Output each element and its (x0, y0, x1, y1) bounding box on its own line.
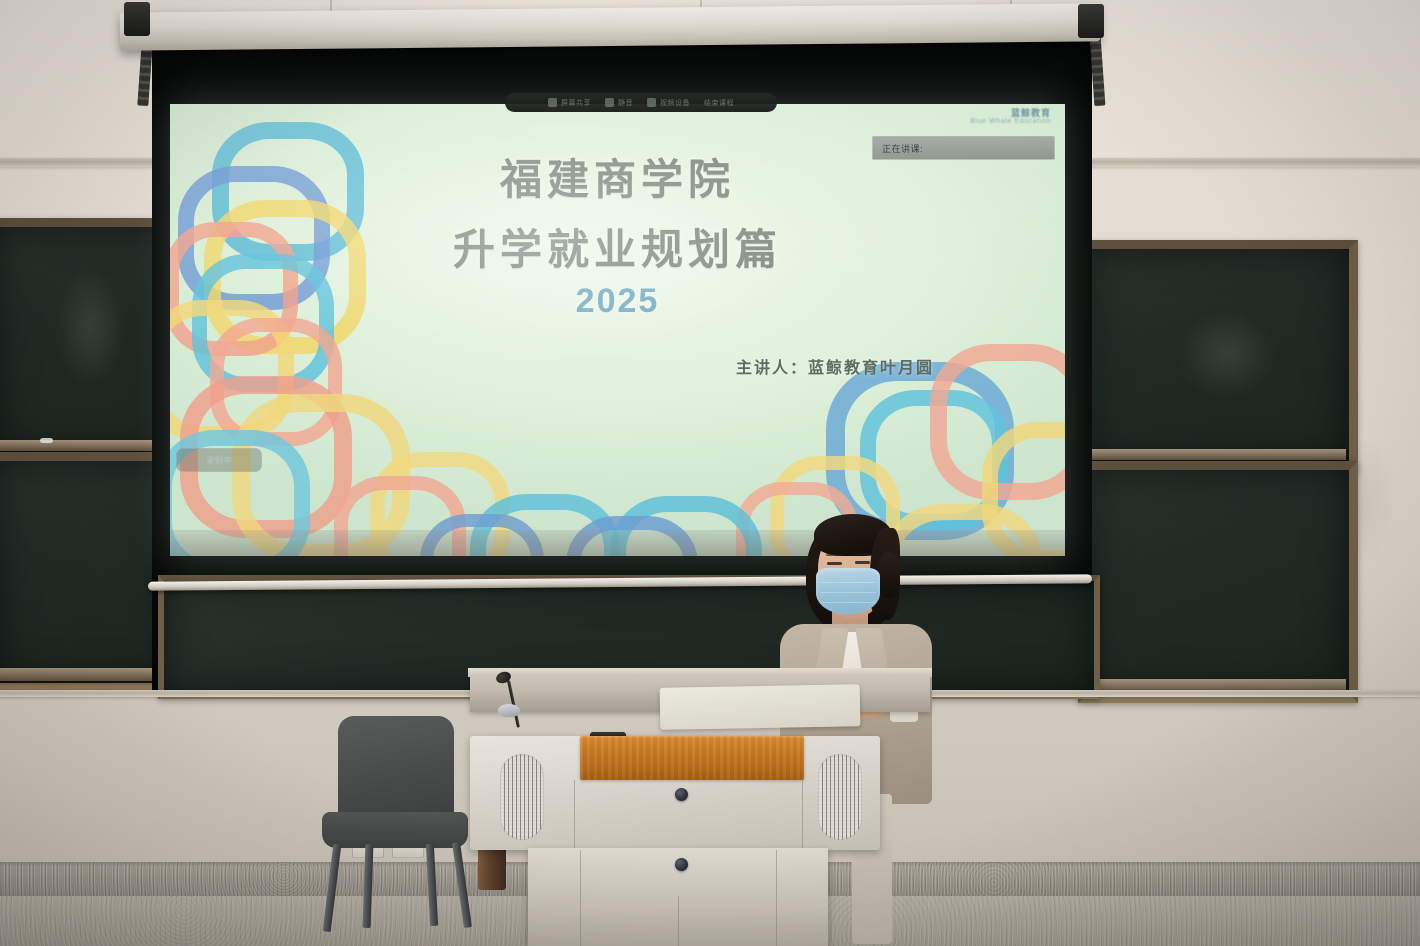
lectern-seam (574, 780, 575, 850)
screen-mount-cap-left (124, 2, 150, 36)
presenter-hair-tie (878, 552, 900, 598)
blackboard-right-upper (1078, 240, 1358, 473)
microphone-icon (605, 98, 614, 107)
lectern-speaker-grille-left (500, 754, 544, 840)
blackboard-right-lower (1078, 461, 1358, 703)
lectern-seam (678, 896, 679, 946)
camera-icon (647, 98, 656, 107)
stacking-chair[interactable] (312, 716, 482, 926)
chalk-rail (0, 440, 172, 451)
toolbar-label-video: 视频设备 (660, 98, 690, 108)
brand-logo: 蓝鲸教育 Blue Whale Education (970, 108, 1051, 126)
slide-title-line1: 福建商学院 (170, 146, 1065, 207)
classroom-photo: 蓝鲸教育 Blue Whale Education 正在讲课: 录制中 福建商学… (0, 0, 1420, 946)
chair-leg (452, 842, 472, 928)
chair-seat (322, 812, 468, 848)
projected-slide: 蓝鲸教育 Blue Whale Education 正在讲课: 录制中 福建商学… (170, 104, 1065, 556)
lectern-seam (776, 850, 777, 946)
presenter-face-mask (816, 568, 880, 614)
brand-logo-en: Blue Whale Education (970, 118, 1051, 126)
slide-title-line2: 升学就业规划篇 (170, 216, 1065, 277)
chalk-smudge (55, 267, 125, 387)
lectern-lock[interactable] (675, 788, 688, 801)
presenter-eyebrow (854, 553, 871, 555)
chalk-piece (40, 438, 53, 443)
teacher-desk-top (468, 668, 932, 677)
chalk-rail (0, 668, 172, 681)
chair-leg (363, 844, 374, 928)
share-icon (548, 98, 557, 107)
slide-speaker: 主讲人：蓝鲸教育叶月圆 (736, 354, 934, 378)
lectern-seam (802, 780, 803, 850)
recording-badge-text: 录制中 (206, 455, 232, 466)
toolbar-label-end: 结束课程 (704, 98, 734, 108)
presenter-eyebrow (826, 554, 843, 556)
toolbar-label-share: 屏幕共享 (561, 98, 591, 108)
chalk-smudge (1177, 309, 1277, 399)
lectern (470, 690, 900, 946)
presenter-eye (827, 562, 842, 565)
chair-backrest (338, 716, 454, 826)
toolbar-item-mute[interactable]: 静音 (605, 98, 633, 108)
toolbar-item-end[interactable]: 结束课程 (704, 98, 734, 108)
toolbar-label-mute: 静音 (618, 98, 633, 108)
slide-year: 2025 (170, 282, 1065, 321)
toolbar-item-share[interactable]: 屏幕共享 (548, 98, 591, 108)
chalk-rail (1078, 449, 1346, 460)
presenter-eye (855, 561, 870, 564)
lectern-speaker-grille-right (818, 754, 862, 840)
lectern-accent-panel (580, 736, 804, 780)
chair-leg (323, 844, 342, 932)
lectern-seam (580, 850, 581, 946)
chair-leg (426, 844, 438, 926)
toolbar-item-video[interactable]: 视频设备 (647, 98, 690, 108)
lectern-lock[interactable] (675, 858, 688, 871)
recording-badge: 录制中 (176, 448, 262, 472)
screen-mount-cap-right (1078, 4, 1104, 38)
meeting-toolbar[interactable]: 屏幕共享 静音 视频设备 结束课程 (505, 93, 777, 112)
lectern-monitor[interactable] (660, 684, 861, 729)
brand-logo-cn: 蓝鲸教育 (970, 108, 1051, 118)
